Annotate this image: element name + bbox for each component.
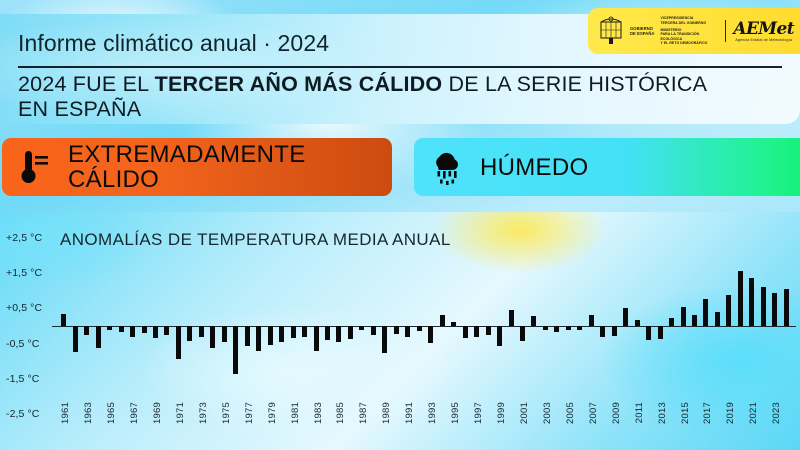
x-axis-tick: 1985 xyxy=(335,402,346,424)
x-axis-tick: 2003 xyxy=(542,402,553,424)
badge-temperature-line-2: CÁLIDO xyxy=(68,167,306,192)
bar-2009 xyxy=(612,326,617,336)
bar-2001 xyxy=(520,326,525,341)
rain-cloud-icon xyxy=(428,147,466,187)
spain-coat-of-arms-icon xyxy=(598,16,624,46)
badge-precipitation: HÚMEDO xyxy=(414,138,800,196)
ministry-line-5: Y EL RETO DEMOGRÁFICO xyxy=(660,41,717,45)
badge-temperature: EXTREMADAMENTE CÁLIDO xyxy=(2,138,392,196)
bar-1983 xyxy=(314,326,319,351)
badge-temperature-line-1: EXTREMADAMENTE xyxy=(68,142,306,167)
x-axis-tick: 1979 xyxy=(267,402,278,424)
ministry-line-4: PARA LA TRANSICIÓN ECOLÓGICA xyxy=(660,32,717,41)
bar-1996 xyxy=(463,326,468,338)
bar-1962 xyxy=(73,326,78,352)
bar-2024 xyxy=(784,289,789,326)
x-axis-tick: 1967 xyxy=(129,402,140,424)
bar-1975 xyxy=(222,326,227,342)
x-axis-tick: 2015 xyxy=(680,402,691,424)
bar-2018 xyxy=(715,312,720,326)
bar-1987 xyxy=(359,326,364,330)
bar-1997 xyxy=(474,326,479,337)
bar-1963 xyxy=(84,326,89,335)
bar-2017 xyxy=(703,299,708,326)
bar-2010 xyxy=(623,308,628,326)
headline-emphasis: TERCER AÑO MÁS CÁLIDO xyxy=(155,72,443,96)
bar-1971 xyxy=(176,326,181,359)
x-axis-tick: 1977 xyxy=(244,402,255,424)
bar-1981 xyxy=(291,326,296,338)
x-axis-tick: 1999 xyxy=(496,402,507,424)
x-axis-tick: 2013 xyxy=(657,402,668,424)
bar-1986 xyxy=(348,326,353,339)
x-axis-tick: 2011 xyxy=(634,402,645,423)
bar-2007 xyxy=(589,315,594,326)
bar-1994 xyxy=(440,315,445,326)
badge-temperature-label: EXTREMADAMENTE CÁLIDO xyxy=(68,142,306,192)
bar-2013 xyxy=(658,326,663,339)
headline-pre: 2024 FUE EL xyxy=(18,72,155,96)
bar-2000 xyxy=(509,310,514,326)
bar-1998 xyxy=(486,326,491,335)
bar-1978 xyxy=(256,326,261,351)
bar-2003 xyxy=(543,326,548,330)
header-divider xyxy=(18,66,782,68)
x-axis-tick: 1983 xyxy=(313,402,324,424)
x-axis-tick: 1969 xyxy=(152,402,163,424)
x-axis-tick: 1993 xyxy=(427,402,438,424)
x-axis-tick: 2005 xyxy=(565,402,576,424)
bar-1966 xyxy=(119,326,124,332)
x-axis-tick: 1961 xyxy=(60,402,71,424)
bar-1989 xyxy=(382,326,387,353)
report-kicker: Informe climático anual · 2024 xyxy=(18,30,329,57)
x-axis-tick: 2007 xyxy=(588,402,599,424)
x-axis-tick: 1995 xyxy=(450,402,461,424)
bar-2019 xyxy=(726,295,731,326)
bar-2021 xyxy=(749,278,754,326)
gobierno-de-espana-wordmark: GOBIERNO DE ESPAÑA xyxy=(630,26,654,36)
bar-1968 xyxy=(142,326,147,333)
bar-2020 xyxy=(738,271,743,326)
x-axis-tick: 2019 xyxy=(725,402,736,424)
x-axis-tick: 1973 xyxy=(198,402,209,424)
page-title: 2024 FUE EL TERCER AÑO MÁS CÁLIDO DE LA … xyxy=(18,72,738,122)
x-axis-tick: 1991 xyxy=(404,402,415,424)
ministry-text-block: VICEPRESIDENCIA TERCERA DEL GOBIERNO MIN… xyxy=(660,16,717,45)
bar-1988 xyxy=(371,326,376,335)
institutional-logos: GOBIERNO DE ESPAÑA VICEPRESIDENCIA TERCE… xyxy=(588,8,800,54)
bar-1969 xyxy=(153,326,158,338)
bar-2022 xyxy=(761,287,766,326)
bar-2006 xyxy=(577,326,582,330)
x-axis-tick: 1987 xyxy=(358,402,369,424)
thermometer-icon xyxy=(16,147,54,187)
bar-1973 xyxy=(199,326,204,337)
bar-1964 xyxy=(96,326,101,348)
bar-1965 xyxy=(107,326,112,330)
x-axis-tick: 1981 xyxy=(290,402,301,424)
bar-1980 xyxy=(279,326,284,342)
gobierno-line-2: DE ESPAÑA xyxy=(630,31,654,36)
bar-1977 xyxy=(245,326,250,346)
x-axis-tick: 2021 xyxy=(748,402,759,424)
bar-1979 xyxy=(268,326,273,345)
badge-precipitation-line-1: HÚMEDO xyxy=(480,155,588,180)
bar-1999 xyxy=(497,326,502,346)
aemet-subtitle: Agencia Estatal de Meteorología xyxy=(735,38,792,42)
bar-1961 xyxy=(61,314,66,326)
bar-1991 xyxy=(405,326,410,337)
bar-1982 xyxy=(302,326,307,337)
x-axis-tick: 2001 xyxy=(519,402,530,424)
bar-2012 xyxy=(646,326,651,340)
aemet-logo: AEMet Agencia Estatal de Meteorología xyxy=(725,20,794,42)
bar-1984 xyxy=(325,326,330,340)
bar-1974 xyxy=(210,326,215,348)
x-axis-tick: 1997 xyxy=(473,402,484,424)
classification-badges: EXTREMADAMENTE CÁLIDO HÚMEDO xyxy=(0,138,800,200)
chart-panel: ANOMALÍAS DE TEMPERATURA MEDIA ANUAL +2,… xyxy=(0,212,800,450)
bar-2023 xyxy=(772,293,777,326)
x-axis-tick: 1989 xyxy=(381,402,392,424)
bar-1995 xyxy=(451,322,456,326)
bar-1967 xyxy=(130,326,135,337)
bar-1970 xyxy=(164,326,169,335)
bar-2014 xyxy=(669,318,674,326)
x-axis-tick: 1971 xyxy=(175,402,186,424)
badge-precipitation-label: HÚMEDO xyxy=(480,155,588,180)
bar-2004 xyxy=(554,326,559,332)
bar-1972 xyxy=(187,326,192,341)
x-axis-tick: 1965 xyxy=(106,402,117,424)
bar-2005 xyxy=(566,326,571,330)
x-axis-tick: 1963 xyxy=(83,402,94,424)
x-axis-tick: 2017 xyxy=(702,402,713,424)
x-axis-tick: 1975 xyxy=(221,402,232,424)
bar-2015 xyxy=(681,307,686,326)
x-axis-tick: 2023 xyxy=(771,402,782,424)
x-axis-tick: 2009 xyxy=(611,402,622,424)
bar-1985 xyxy=(336,326,341,342)
bar-1976 xyxy=(233,326,238,374)
bar-1992 xyxy=(417,326,422,331)
bar-1990 xyxy=(394,326,399,334)
bar-2016 xyxy=(692,315,697,326)
bar-2008 xyxy=(600,326,605,337)
bar-1993 xyxy=(428,326,433,343)
aemet-wordmark: AEMet xyxy=(733,20,794,38)
bar-2002 xyxy=(531,316,536,326)
bar-2011 xyxy=(635,320,640,326)
chart-plot-area: +2,5 °C+1,5 °C+0,5 °C-0,5 °C-1,5 °C-2,5 … xyxy=(0,212,800,450)
